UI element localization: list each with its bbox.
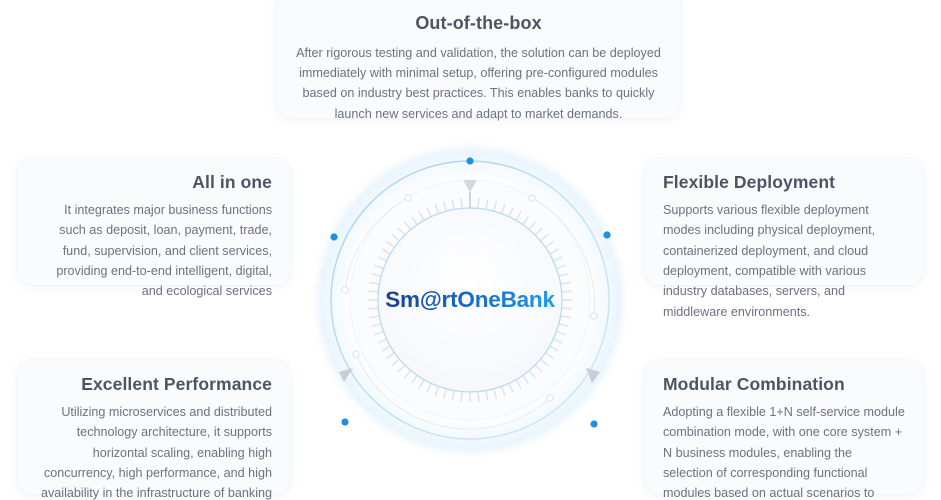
feature-card-body: Adopting a flexible 1+N self-service mod… [663, 402, 905, 500]
feature-card-title: All in one [36, 172, 272, 194]
feature-card-title: Out-of-the-box [295, 12, 662, 35]
central-ring-graphic [300, 130, 640, 470]
feature-card-all-in-one[interactable]: All in one It integrates major business … [18, 158, 290, 285]
infographic-canvas: Sm@rtOneBank Out-of-the-box After rigoro… [0, 0, 941, 500]
decor-endpoint-icon [529, 195, 535, 201]
feature-card-title: Modular Combination [663, 374, 905, 396]
feature-card-body: Supports various flexible deployment mod… [663, 200, 905, 322]
decor-endpoint-icon [405, 195, 411, 201]
ring-node-bottom-right [590, 420, 597, 427]
ring-node-right [603, 231, 610, 238]
feature-card-body: It integrates major business functions s… [36, 200, 272, 302]
decor-endpoint-icon [353, 351, 359, 357]
feature-card-title: Flexible Deployment [663, 172, 905, 194]
ring-node-top [466, 157, 473, 164]
ring-node-bottom-left [341, 418, 348, 425]
ring-node-left [330, 233, 337, 240]
feature-card-out-of-the-box[interactable]: Out-of-the-box After rigorous testing an… [277, 0, 680, 118]
feature-card-body: After rigorous testing and validation, t… [295, 43, 662, 125]
feature-card-title: Excellent Performance [36, 374, 272, 396]
inner-ring [378, 208, 562, 392]
feature-card-flexible-deployment[interactable]: Flexible Deployment Supports various fle… [645, 158, 923, 285]
feature-card-modular-combination[interactable]: Modular Combination Adopting a flexible … [645, 360, 923, 494]
feature-card-excellent-performance[interactable]: Excellent Performance Utilizing microser… [18, 360, 290, 494]
decor-endpoint-icon [342, 287, 348, 293]
feature-card-body: Utilizing microservices and distributed … [36, 402, 272, 500]
decor-endpoint-icon [591, 313, 597, 319]
decor-endpoint-icon [547, 395, 553, 401]
